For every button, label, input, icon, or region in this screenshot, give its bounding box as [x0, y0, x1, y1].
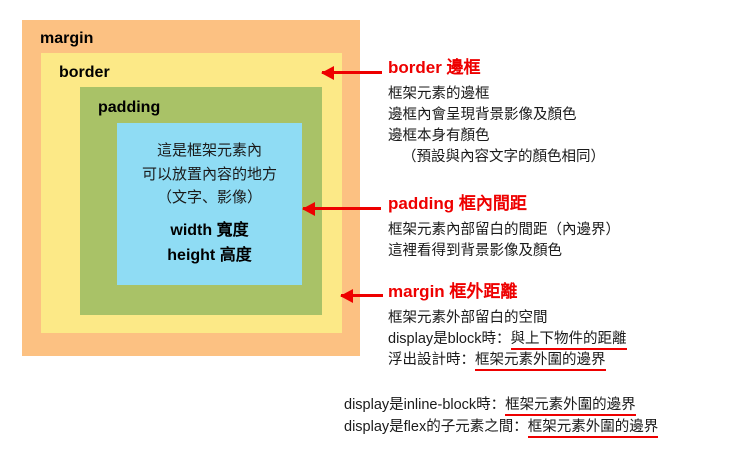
- border-annotation-title: border 邊框: [388, 58, 605, 78]
- margin-annotation-line-2-prefix: display是block時：: [388, 331, 511, 347]
- padding-annotation-title: padding 框內間距: [388, 194, 620, 214]
- border-annotation-line-4: （預設與內容文字的顏色相同）: [388, 147, 605, 168]
- display-inline-block-note: display是inline-block時：框架元素外圍的邊界: [344, 395, 658, 417]
- border-annotation-line-3: 邊框本身有顏色: [388, 126, 605, 147]
- content-text-line-1: 這是框架元素內: [157, 139, 262, 162]
- margin-arrow-left-icon: [341, 294, 383, 297]
- padding-annotation-line-1: 框架元素內部留白的間距（內邊界）: [388, 220, 620, 241]
- padding-layer: padding 這是框架元素內 可以放置內容的地方 （文字、影像） width …: [80, 87, 322, 315]
- display-flex-note: display是flex的子元素之間：框架元素外圍的邊界: [344, 417, 658, 439]
- display-mode-notes: display是inline-block時：框架元素外圍的邊界 display是…: [344, 395, 658, 439]
- margin-annotation-line-2: display是block時：與上下物件的距離: [388, 329, 627, 350]
- padding-layer-label: padding: [98, 100, 160, 116]
- padding-annotation-body: 框架元素內部留白的間距（內邊界） 這裡看得到背景影像及顏色: [388, 220, 620, 262]
- border-annotation-line-2: 邊框內會呈現背景影像及顏色: [388, 105, 605, 126]
- margin-annotation-line-3-emphasis: 框架元素外圍的邊界: [475, 352, 606, 371]
- border-annotation: border 邊框 框架元素的邊框 邊框內會呈現背景影像及顏色 邊框本身有顏色 …: [388, 58, 605, 168]
- content-width-label: width 寬度: [170, 219, 248, 244]
- content-text-line-3: （文字、影像）: [157, 186, 262, 209]
- content-text-line-2: 可以放置內容的地方: [142, 163, 277, 186]
- padding-annotation: padding 框內間距 框架元素內部留白的間距（內邊界） 這裡看得到背景影像及…: [388, 194, 620, 262]
- margin-layer-label: margin: [40, 31, 93, 47]
- box-model-diagram: margin border padding 這是框架元素內 可以放置內容的地方 …: [22, 20, 360, 356]
- margin-annotation-body: 框架元素外部留白的空間 display是block時：與上下物件的距離 浮出設計…: [388, 308, 627, 371]
- margin-annotation-line-2-emphasis: 與上下物件的距離: [511, 331, 627, 350]
- border-layer: border padding 這是框架元素內 可以放置內容的地方 （文字、影像）…: [41, 53, 342, 333]
- margin-annotation-line-3: 浮出設計時：框架元素外圍的邊界: [388, 350, 627, 371]
- border-annotation-body: 框架元素的邊框 邊框內會呈現背景影像及顏色 邊框本身有顏色 （預設與內容文字的顏…: [388, 84, 605, 168]
- border-annotation-line-1: 框架元素的邊框: [388, 84, 605, 105]
- margin-annotation-line-1: 框架元素外部留白的空間: [388, 308, 627, 329]
- padding-annotation-line-2: 這裡看得到背景影像及顏色: [388, 241, 620, 262]
- display-flex-note-prefix: display是flex的子元素之間：: [344, 419, 528, 435]
- content-height-label: height 高度: [167, 244, 251, 269]
- margin-annotation: margin 框外距離 框架元素外部留白的空間 display是block時：與…: [388, 282, 627, 371]
- display-flex-note-emphasis: 框架元素外圍的邊界: [528, 419, 659, 438]
- display-inline-block-note-prefix: display是inline-block時：: [344, 397, 505, 413]
- padding-arrow-left-icon: [303, 207, 381, 210]
- border-arrow-left-icon: [322, 71, 382, 74]
- margin-annotation-title: margin 框外距離: [388, 282, 627, 302]
- margin-annotation-line-3-prefix: 浮出設計時：: [388, 352, 475, 368]
- content-layer: 這是框架元素內 可以放置內容的地方 （文字、影像） width 寬度 heigh…: [117, 123, 302, 285]
- display-inline-block-note-emphasis: 框架元素外圍的邊界: [505, 397, 636, 416]
- border-layer-label: border: [59, 65, 110, 81]
